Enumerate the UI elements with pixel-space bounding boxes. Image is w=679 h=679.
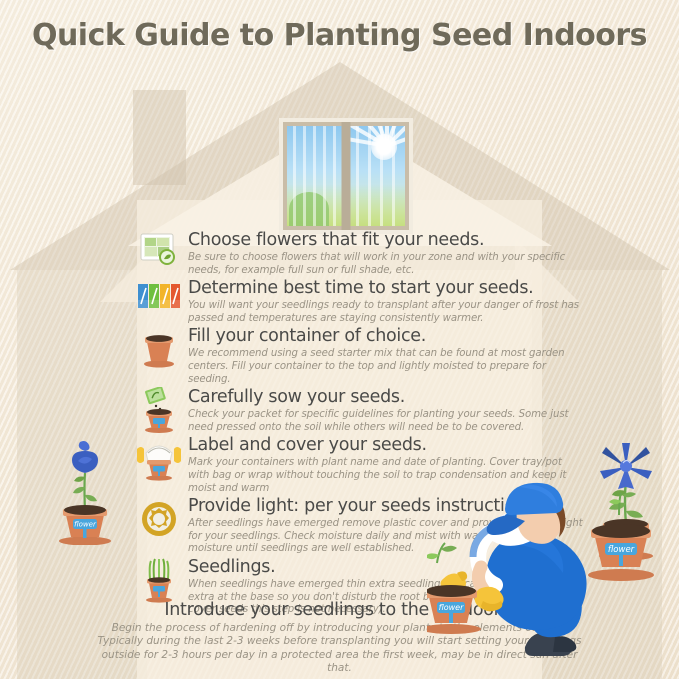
- step-body: Be sure to choose flowers that will work…: [188, 252, 586, 277]
- seed-packets-icon: [136, 278, 182, 324]
- window-pane-right: [350, 126, 405, 226]
- window-blind-slat: [323, 126, 326, 226]
- filled-pot-icon: [136, 326, 182, 372]
- step-heading: Label and cover your seeds.: [188, 435, 586, 456]
- infographic-poster: Quick Guide to Planting Seed Indoors: [0, 0, 679, 679]
- step-item: Fill your container of choice. We recomm…: [136, 326, 586, 386]
- window-blind-slat: [356, 126, 359, 226]
- gardener-illustration: flower flower: [427, 479, 677, 679]
- step-text: Choose flowers that fit your needs. Be s…: [188, 230, 586, 277]
- step-item: Determine best time to start your seeds.…: [136, 278, 586, 325]
- gloved-hands-cover-icon: [136, 435, 182, 481]
- window-blind-slat: [313, 126, 316, 226]
- step-body: You will want your seedlings ready to tr…: [188, 300, 586, 325]
- step-text: Determine best time to start your seeds.…: [188, 278, 586, 325]
- window-mullion: [342, 122, 351, 230]
- sowing-seeds-icon: [136, 387, 182, 433]
- step-text: Carefully sow your seeds. Check your pac…: [188, 387, 586, 434]
- pot-tag-label-gardener: flower: [439, 603, 465, 612]
- window-blind-slat: [293, 126, 296, 226]
- step-item: Carefully sow your seeds. Check your pac…: [136, 387, 586, 434]
- step-heading: Fill your container of choice.: [188, 326, 586, 347]
- window-blind-slat: [303, 126, 306, 226]
- step-heading: Determine best time to start your seeds.: [188, 278, 586, 299]
- seedlings-pot-icon: [136, 557, 182, 603]
- window-pane-left: [287, 126, 342, 226]
- step-item: Choose flowers that fit your needs. Be s…: [136, 230, 586, 277]
- potted-plant-left: flower: [40, 415, 130, 545]
- window-blind-slat: [368, 126, 371, 226]
- step-text: Fill your container of choice. We recomm…: [188, 326, 586, 386]
- window-blind-slat: [333, 126, 336, 226]
- step-heading: Choose flowers that fit your needs.: [188, 230, 586, 251]
- seed-catalog-icon: [136, 230, 182, 276]
- pot-tag-label-left: flower: [74, 521, 97, 529]
- window-illustration: [279, 118, 413, 234]
- window-blind-slat: [380, 126, 383, 226]
- step-heading: Carefully sow your seeds.: [188, 387, 586, 408]
- pot-tag-label-bench: flower: [608, 545, 635, 555]
- page-title: Quick Guide to Planting Seed Indoors: [0, 18, 679, 53]
- window-blind-slat: [392, 126, 395, 226]
- step-body: Check your packet for specific guideline…: [188, 409, 586, 434]
- sun-light-ring-icon: [136, 496, 182, 542]
- step-body: We recommend using a seed starter mix th…: [188, 348, 586, 386]
